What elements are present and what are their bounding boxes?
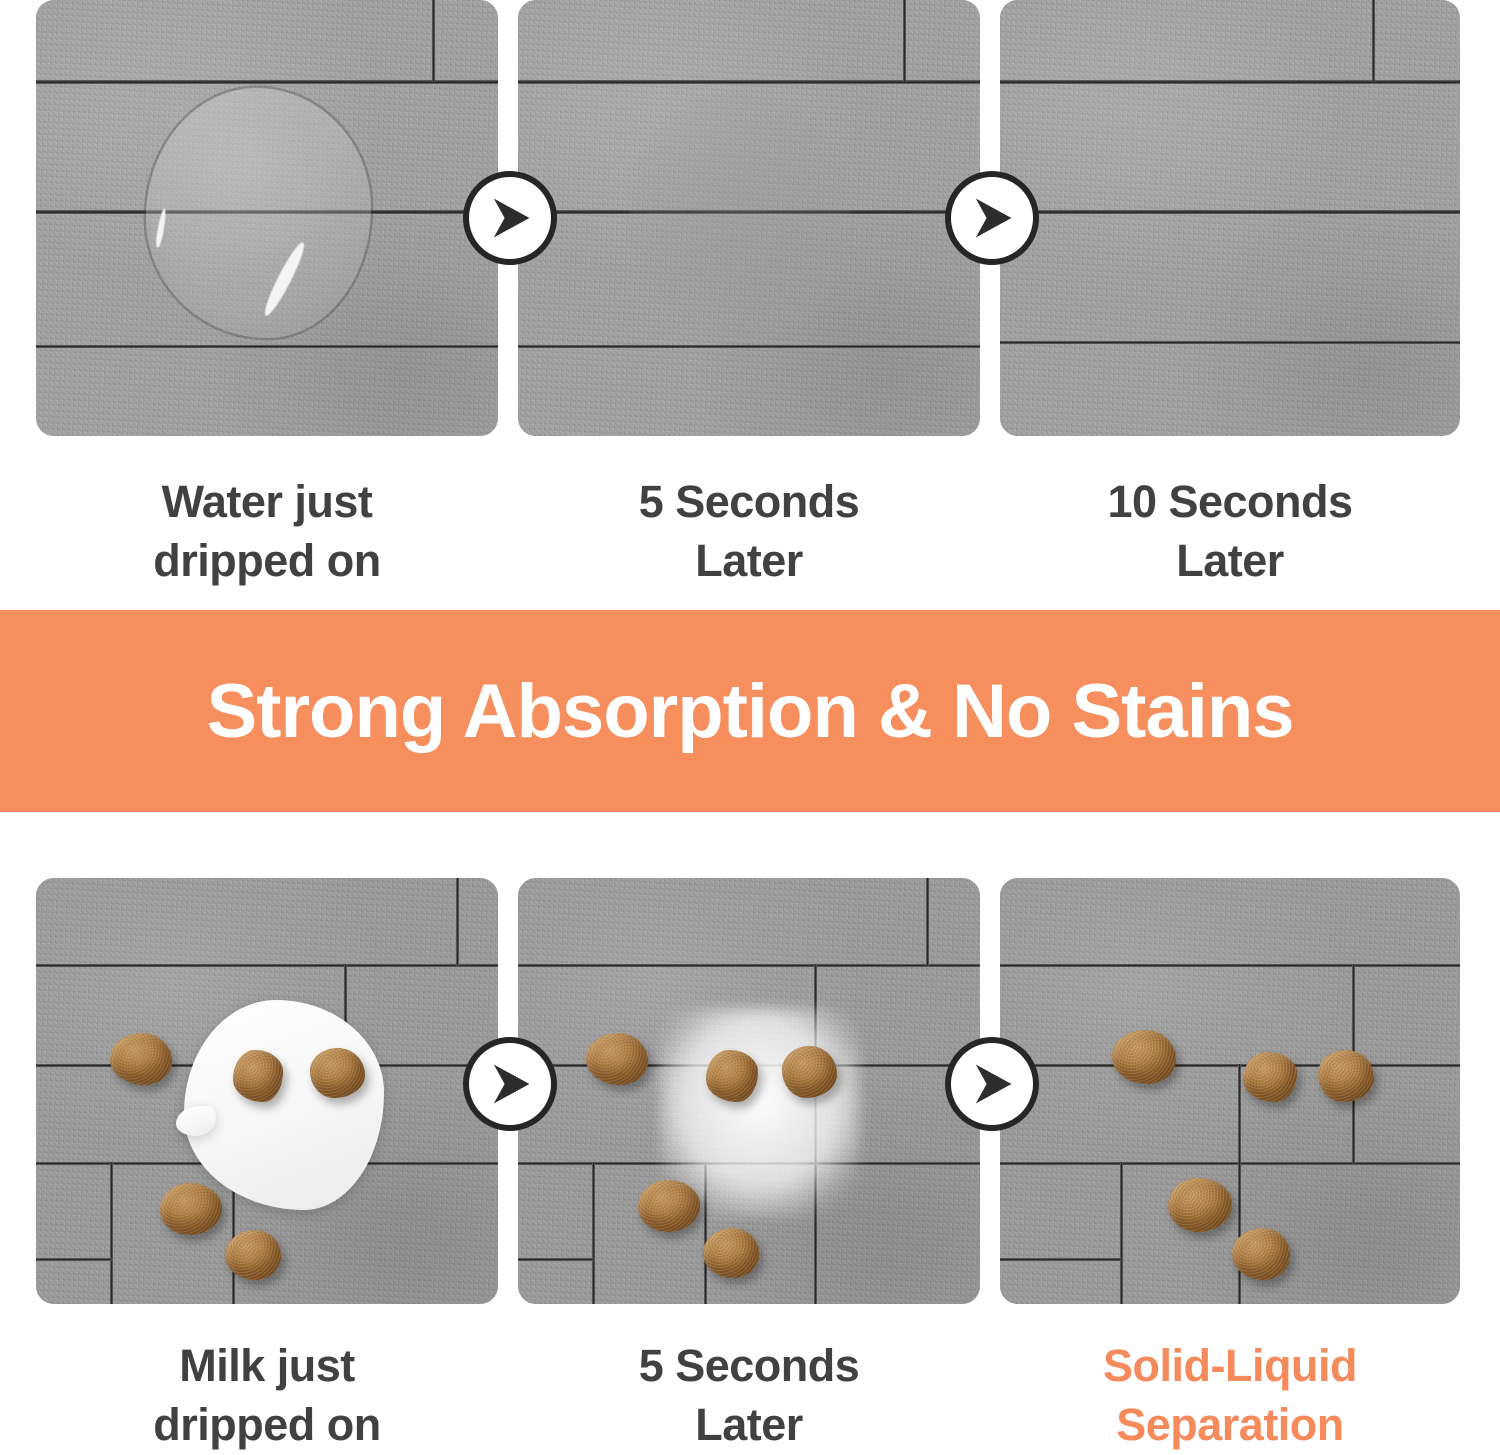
- grout-line: [1120, 1162, 1123, 1304]
- caption-line-1: Water just: [36, 472, 498, 531]
- kibble-piece: [1232, 1228, 1290, 1280]
- caption-line-2: dripped on: [36, 1395, 498, 1454]
- arrow-right-icon: [945, 1037, 1039, 1131]
- caption-line-1: 10 Seconds: [1000, 472, 1460, 531]
- caption-line-1: 5 Seconds: [518, 472, 980, 531]
- grout-line: [592, 1162, 595, 1304]
- caption-water-5-seconds: 5 Seconds Later: [518, 472, 980, 591]
- kibble-piece: [586, 1033, 648, 1085]
- grout-line: [518, 964, 980, 967]
- grout-line: [456, 878, 459, 966]
- caption-line-1: Milk just: [36, 1336, 498, 1395]
- top-image-row: [0, 0, 1500, 436]
- panel-water-5-seconds: [518, 0, 980, 436]
- caption-milk-dripped: Milk just dripped on: [36, 1336, 498, 1455]
- stone-surface-texture: [1000, 878, 1460, 1304]
- caption-line-2: Separation: [1000, 1395, 1460, 1454]
- kibble-piece: [233, 1050, 283, 1102]
- kibble-piece: [1318, 1050, 1374, 1102]
- stone-surface-texture: [1000, 0, 1460, 436]
- water-droplet: [146, 88, 371, 338]
- grout-line: [1000, 341, 1460, 344]
- grout-line: [1000, 210, 1460, 214]
- panel-solid-liquid-separation: [1000, 878, 1460, 1304]
- grout-line: [36, 1258, 112, 1261]
- bottom-image-row: [0, 878, 1500, 1304]
- kibble-piece: [703, 1228, 759, 1278]
- grout-line: [1000, 80, 1460, 84]
- grout-line: [36, 964, 498, 967]
- kibble-piece: [110, 1033, 172, 1085]
- caption-line-1: Solid-Liquid: [1000, 1336, 1460, 1395]
- kibble-piece: [1243, 1052, 1297, 1102]
- arrow-right-icon: [463, 171, 557, 265]
- arrow-right-icon: [945, 171, 1039, 265]
- grout-line: [36, 345, 498, 348]
- caption-solid-liquid-separation: Solid-Liquid Separation: [1000, 1336, 1460, 1455]
- panel-water-10-seconds: [1000, 0, 1460, 436]
- grout-line: [518, 1258, 594, 1261]
- kibble-piece: [782, 1046, 837, 1098]
- grout-line: [1000, 1258, 1122, 1261]
- panel-water-dripped: [36, 0, 498, 436]
- grout-line: [36, 80, 498, 84]
- grout-line: [1000, 964, 1460, 967]
- panel-milk-dripped: [36, 878, 498, 1304]
- panel-milk-5-seconds: [518, 878, 980, 1304]
- grout-line: [518, 80, 980, 84]
- grout-line: [432, 0, 435, 82]
- grout-line: [903, 0, 906, 82]
- caption-line-2: Later: [518, 1395, 980, 1454]
- caption-line-1: 5 Seconds: [518, 1336, 980, 1395]
- caption-milk-5-seconds: 5 Seconds Later: [518, 1336, 980, 1455]
- caption-water-10-seconds: 10 Seconds Later: [1000, 472, 1460, 591]
- caption-line-2: Later: [1000, 531, 1460, 590]
- headline-text: Strong Absorption & No Stains: [206, 668, 1293, 755]
- kibble-piece: [225, 1230, 281, 1280]
- kibble-piece: [1112, 1030, 1176, 1084]
- arrow-right-icon: [463, 1037, 557, 1131]
- caption-line-2: Later: [518, 531, 980, 590]
- caption-line-2: dripped on: [36, 531, 498, 590]
- grout-line: [1372, 0, 1375, 82]
- grout-line: [518, 345, 980, 348]
- caption-water-dripped: Water just dripped on: [36, 472, 498, 591]
- grout-line: [110, 1162, 113, 1304]
- kibble-piece: [310, 1048, 365, 1098]
- kibble-piece: [706, 1050, 758, 1102]
- grout-line: [1000, 1162, 1460, 1165]
- headline-banner: Strong Absorption & No Stains: [0, 610, 1500, 812]
- grout-line: [926, 878, 929, 966]
- grout-line: [1000, 1064, 1460, 1067]
